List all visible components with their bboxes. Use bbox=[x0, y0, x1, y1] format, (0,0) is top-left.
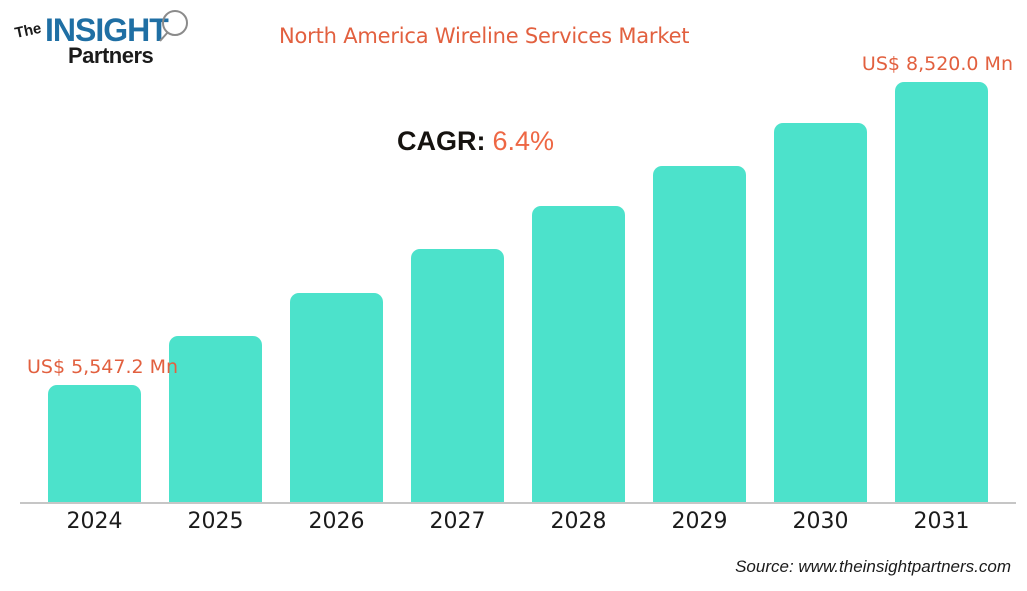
x-label-2025: 2025 bbox=[169, 509, 262, 534]
x-label-2026: 2026 bbox=[290, 509, 383, 534]
bar-2027 bbox=[411, 249, 504, 502]
bar-2031 bbox=[895, 82, 988, 502]
x-axis-line bbox=[20, 502, 1016, 504]
bar-2030 bbox=[774, 123, 867, 502]
x-label-2024: 2024 bbox=[48, 509, 141, 534]
bar-2026 bbox=[290, 293, 383, 502]
source-attribution: Source: www.theinsightpartners.com bbox=[735, 557, 1011, 577]
last-bar-value-label: US$ 8,520.0 Mn bbox=[862, 53, 1013, 75]
x-label-2027: 2027 bbox=[411, 509, 504, 534]
cagr-label: CAGR: bbox=[397, 126, 486, 156]
x-label-2031: 2031 bbox=[895, 509, 988, 534]
cagr-annotation: CAGR:6.4% bbox=[397, 126, 554, 157]
x-label-2030: 2030 bbox=[774, 509, 867, 534]
first-bar-value-label: US$ 5,547.2 Mn bbox=[27, 356, 178, 378]
bar-2025 bbox=[169, 336, 262, 502]
bar-2029 bbox=[653, 166, 746, 502]
bar-chart: 20242025202620272028202920302031 US$ 5,5… bbox=[0, 0, 1027, 591]
cagr-value: 6.4% bbox=[493, 126, 555, 156]
x-label-2029: 2029 bbox=[653, 509, 746, 534]
x-label-2028: 2028 bbox=[532, 509, 625, 534]
chart-page: The INSIGHT Partners North America Wirel… bbox=[0, 0, 1027, 591]
bar-2024 bbox=[48, 385, 141, 502]
bar-2028 bbox=[532, 206, 625, 502]
